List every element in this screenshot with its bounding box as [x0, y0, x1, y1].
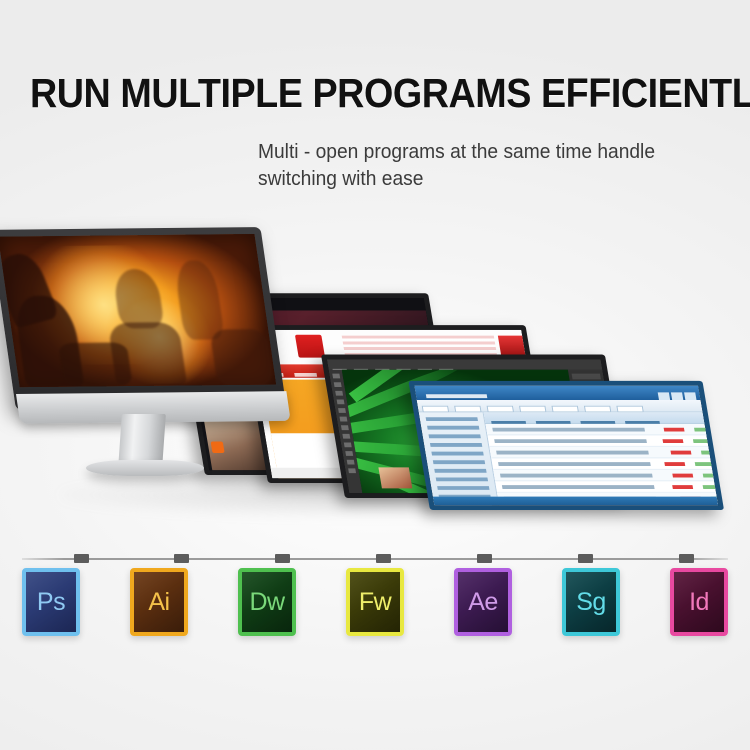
table-row [486, 424, 707, 435]
illustrator-icon-label: Ai [148, 588, 169, 617]
divider-tick [275, 554, 290, 563]
fireworks-icon-label: Fw [359, 588, 391, 617]
scout-icon[interactable]: Sg [562, 568, 620, 636]
indesign-icon-label: Id [689, 588, 709, 617]
table-row [489, 447, 710, 458]
fireworks-icon[interactable]: Fw [346, 568, 404, 636]
news-site-logo [295, 335, 325, 358]
table-row [487, 435, 708, 446]
table-row [495, 481, 716, 492]
table-header-row [484, 412, 705, 423]
scout-icon-label: Sg [576, 588, 606, 617]
aftereffects-icon[interactable]: Ae [454, 568, 512, 636]
business-app-content [414, 386, 718, 506]
photoshop-icon[interactable]: Ps [22, 568, 80, 636]
page-title: RUN MULTIPLE PROGRAMS EFFICIENTLY [30, 70, 720, 116]
divider-tick [74, 554, 89, 563]
business-app-statusbar [433, 497, 718, 506]
divider [22, 552, 728, 566]
monitor-stand-base [86, 460, 204, 476]
indesign-icon[interactable]: Id [670, 568, 728, 636]
device-showcase-scene [0, 210, 750, 540]
aftereffects-icon-label: Ae [468, 588, 498, 617]
app-icon-row: Ps Ai Dw Fw Ae Sg Id [22, 568, 728, 644]
divider-tick [477, 554, 492, 563]
divider-tick [376, 554, 391, 563]
page-subtitle: Multi - open programs at the same time h… [258, 139, 719, 193]
table-row [493, 470, 714, 481]
monitor-screen-wallpaper [0, 234, 276, 387]
editor-menubar [327, 359, 603, 370]
editor-reference-thumb [378, 467, 412, 488]
divider-tick [578, 554, 593, 563]
dreamweaver-icon-label: Dw [249, 588, 284, 617]
imac-desktop-monitor [8, 218, 298, 508]
header-section: RUN MULTIPLE PROGRAMS EFFICIENTLY Multi … [0, 0, 750, 215]
business-app-table [484, 412, 719, 505]
table-row [491, 458, 712, 469]
screen-business-data-app [408, 381, 724, 510]
divider-tick [174, 554, 189, 563]
business-app-titlebar [414, 386, 700, 400]
dreamweaver-icon[interactable]: Dw [238, 568, 296, 636]
news-site-promo [498, 336, 530, 355]
illustrator-icon[interactable]: Ai [130, 568, 188, 636]
news-site-banner [342, 336, 497, 355]
monitor-bezel [0, 227, 286, 410]
divider-line [22, 558, 728, 560]
photoshop-icon-label: Ps [37, 588, 65, 617]
business-app-toolbar [417, 400, 703, 412]
divider-tick [679, 554, 694, 563]
